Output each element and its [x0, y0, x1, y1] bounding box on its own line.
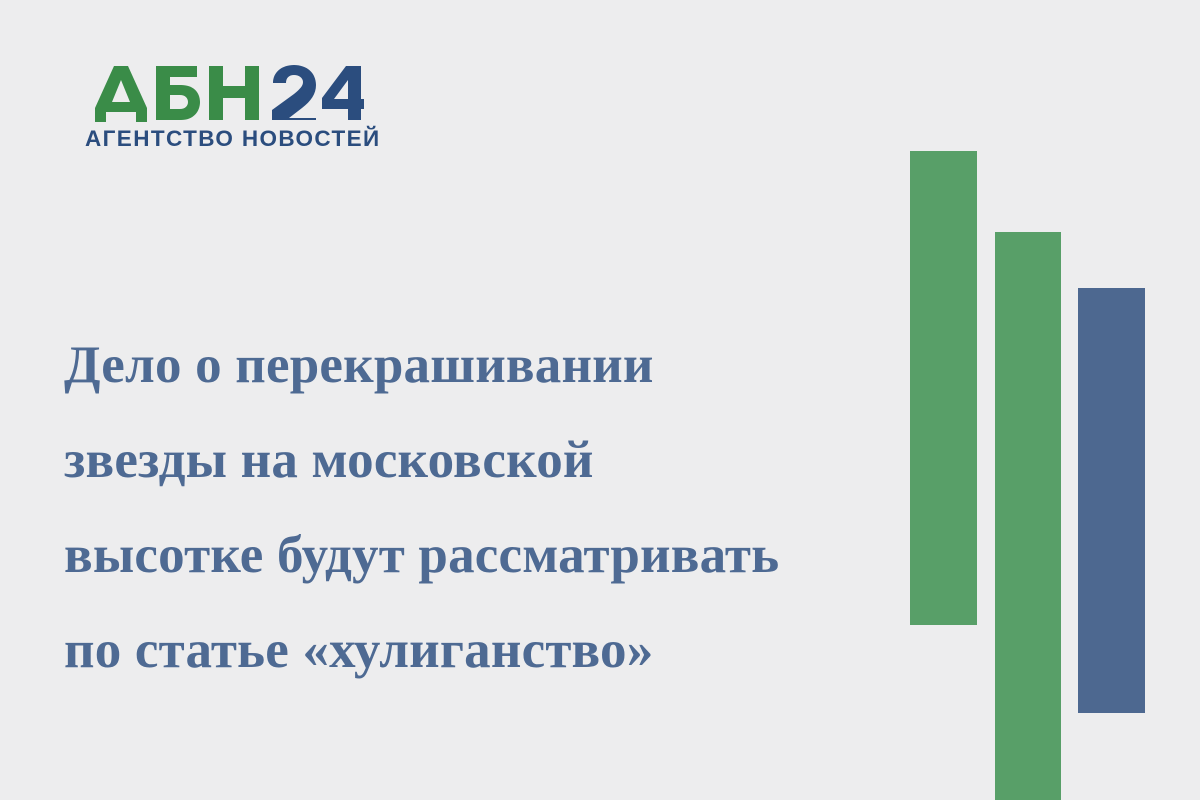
decorative-bar-mid-green [995, 232, 1061, 800]
brand-logo[interactable]: АГЕНТСТВО НОВОСТЕЙ [84, 64, 374, 164]
headline: Дело о перекрашивании звезды на московск… [64, 318, 884, 698]
brand-tagline: АГЕНТСТВО НОВОСТЕЙ [85, 126, 381, 152]
headline-line-1: Дело о перекрашивании [64, 318, 884, 413]
decorative-bar-short-blue [1078, 288, 1145, 713]
decorative-bar-tall-green [910, 151, 977, 625]
headline-line-4: по статье «хулиганство» [64, 603, 884, 698]
headline-line-3: высотке будут рассматривать [64, 508, 884, 603]
headline-line-2: звезды на московской [64, 413, 884, 508]
abn24-logo-icon [84, 64, 364, 124]
news-card-poster: АГЕНТСТВО НОВОСТЕЙ Дело о перекрашивании… [0, 0, 1200, 800]
